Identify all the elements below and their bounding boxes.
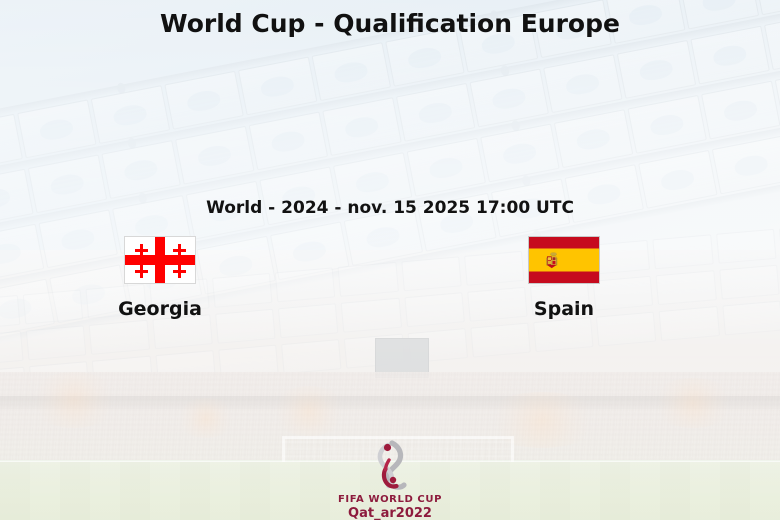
fifa-world-cup-logo: FIFA WORLD CUP Qat_ar2022 [0, 440, 780, 520]
spain-coat-of-arms-icon [546, 251, 561, 271]
match-info-line: World - 2024 - nov. 15 2025 17:00 UTC [0, 198, 780, 218]
team-away[interactable]: Spain [444, 236, 684, 320]
fifa-world-cup-trophy-icon [362, 440, 418, 492]
team-away-name: Spain [444, 298, 684, 320]
card-content: World Cup - Qualification Europe World -… [0, 0, 780, 520]
page-title: World Cup - Qualification Europe [0, 9, 780, 38]
flag-spain-icon [528, 236, 600, 284]
team-home[interactable]: Georgia [40, 236, 280, 320]
flag-georgia-icon [124, 236, 196, 284]
fifa-logo-line-1: FIFA WORLD CUP [0, 494, 780, 506]
fifa-logo-line-2: Qat_ar2022 [0, 506, 780, 520]
team-home-name: Georgia [40, 298, 280, 320]
match-preview-card: World Cup - Qualification Europe World -… [0, 0, 780, 520]
